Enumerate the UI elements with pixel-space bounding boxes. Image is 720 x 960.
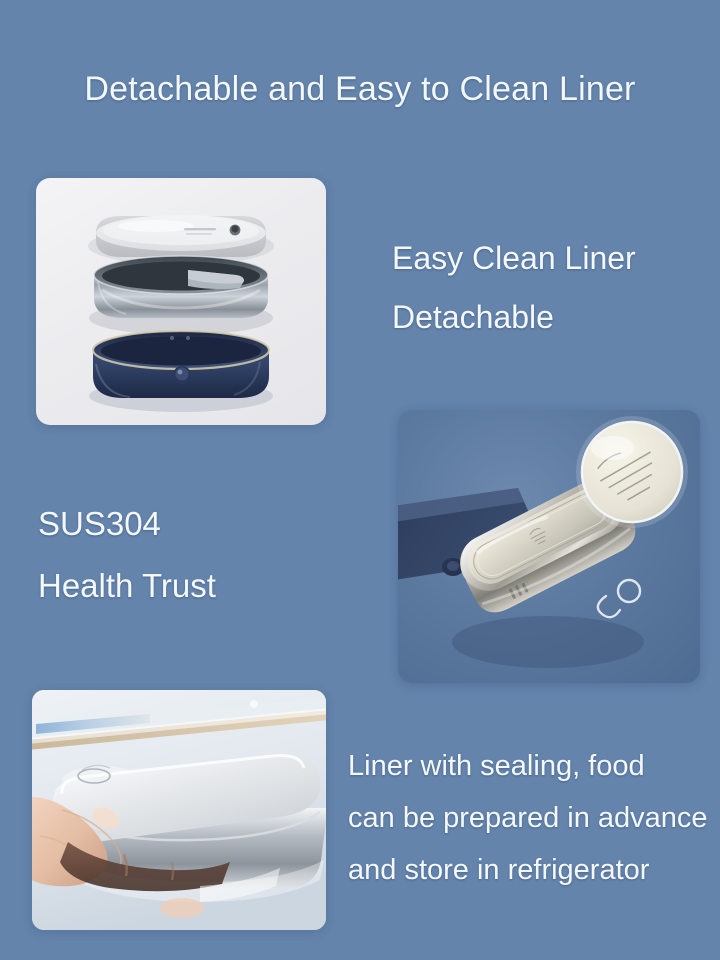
copy-line: SUS304 xyxy=(38,505,216,543)
copy-line: can be prepared in advance xyxy=(348,802,708,835)
exploded-product-view-image xyxy=(36,178,326,425)
copy-line: Easy Clean Liner xyxy=(392,240,636,277)
copy-line: and store in refrigerator xyxy=(348,854,708,887)
copy-block-sealing: Liner with sealing, food can be prepared… xyxy=(348,750,708,887)
liner-with-stamp-closeup-image xyxy=(398,410,700,683)
copy-block-material: SUS304 Health Trust xyxy=(38,505,216,605)
product-part-navy-base xyxy=(89,331,273,412)
hand-placing-liner-in-refrigerator-image xyxy=(32,690,326,930)
copy-line: Health Trust xyxy=(38,567,216,605)
product-part-stainless-liner xyxy=(89,256,273,335)
product-infographic: Detachable and Easy to Clean Liner xyxy=(0,0,720,960)
copy-block-easy-clean: Easy Clean Liner Detachable xyxy=(392,240,636,336)
copy-line: Detachable xyxy=(392,299,636,336)
copy-line: Liner with sealing, food xyxy=(348,750,708,783)
page-headline: Detachable and Easy to Clean Liner xyxy=(0,70,720,109)
